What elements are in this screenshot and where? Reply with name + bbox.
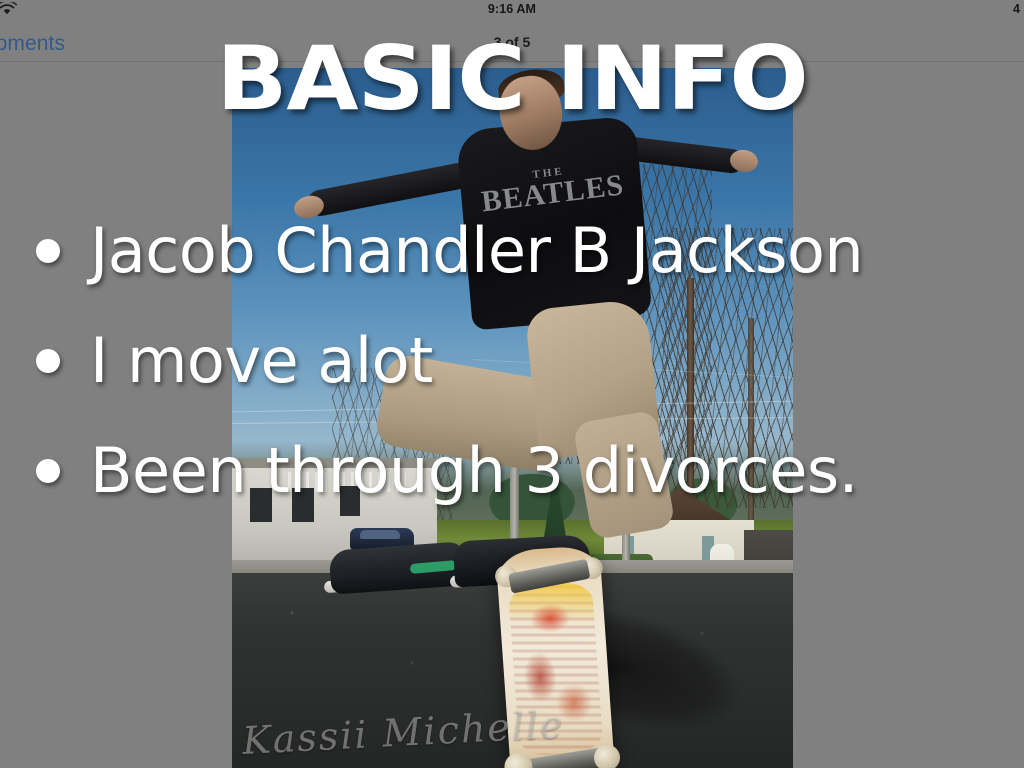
slide-title: BASIC INFO [0, 36, 1024, 122]
slide-bullet-list: Jacob Chandler B Jackson I move alot Bee… [36, 196, 1024, 526]
bullet-text: Jacob Chandler B Jackson [90, 217, 863, 285]
list-item: Jacob Chandler B Jackson [36, 196, 1024, 306]
car-window [360, 530, 400, 539]
slide-viewer-screen: 9:16 AM 4 Moments 3 of 5 [0, 0, 1024, 768]
list-item: I move alot [36, 306, 1024, 416]
bullet-dot-icon [36, 239, 60, 263]
bullet-text: I move alot [90, 327, 433, 395]
bullet-dot-icon [36, 459, 60, 483]
battery-percentage: 4 [1013, 2, 1020, 16]
bullet-dot-icon [36, 349, 60, 373]
list-item: Been through 3 divorces. [36, 416, 1024, 526]
status-bar-clock: 9:16 AM [0, 2, 1024, 16]
bullet-text: Been through 3 divorces. [90, 437, 858, 505]
status-bar: 9:16 AM 4 [0, 0, 1024, 20]
